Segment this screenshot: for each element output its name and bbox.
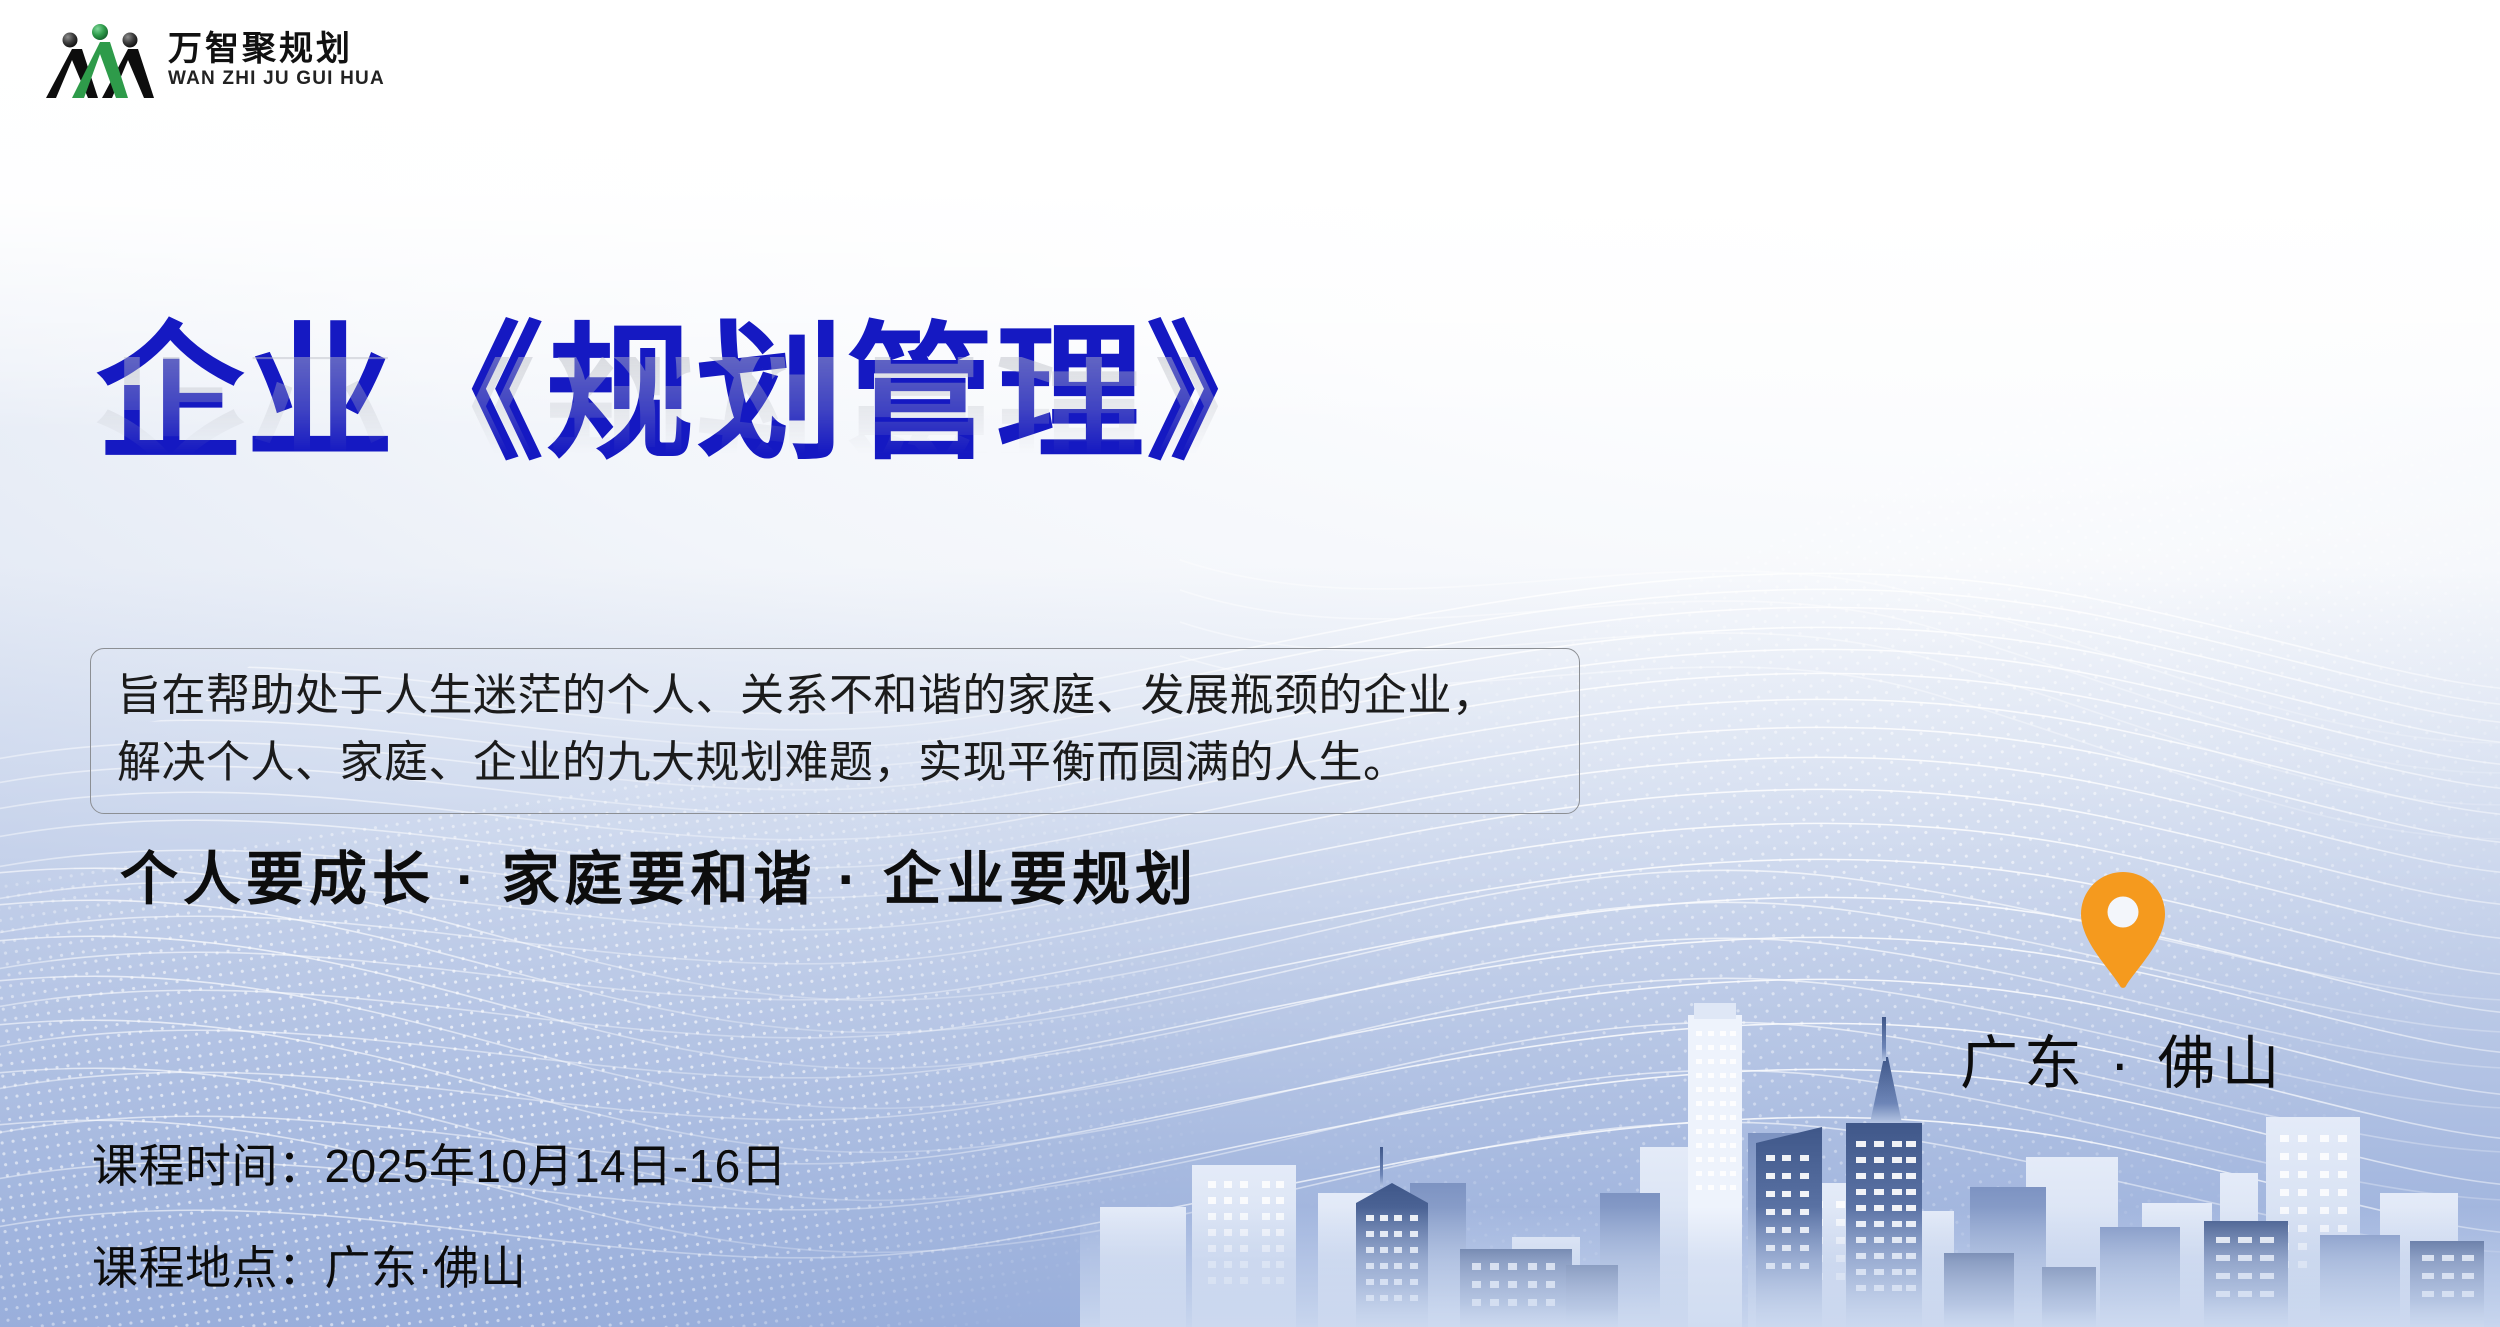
location-badge: 广东 · 佛山 — [1960, 870, 2286, 1100]
description-box: 旨在帮助处于人生迷茫的个人、关系不和谐的家庭、发展瓶颈的企业， 解决个人、家庭、… — [90, 648, 1580, 814]
course-info-block: 课程时间：2025年10月14日-16日 课程地点：广东·佛山 — [92, 1130, 787, 1298]
description-line-2: 解决个人、家庭、企业的九大规划难题，实现平衡而圆满的人生。 — [117, 730, 1557, 797]
title-reflection: 企业《规划管理》 — [96, 357, 1296, 475]
city-skyline-illustration — [1080, 997, 2500, 1327]
three-people-logo-icon — [46, 18, 154, 102]
hero-title-block: 企业《规划管理》 企业《规划管理》 — [96, 320, 1296, 593]
brand-logo[interactable]: 万智聚规划 WAN ZHI JU GUI HUA — [46, 18, 385, 102]
slogan-text: 个人要成长 · 家庭要和谐 · 企业要规划 — [120, 832, 1198, 916]
location-label: 广东 · 佛山 — [1960, 1016, 2286, 1100]
course-time-line: 课程时间：2025年10月14日-16日 — [92, 1130, 787, 1196]
course-place-line: 课程地点：广东·佛山 — [92, 1232, 787, 1298]
description-line-1: 旨在帮助处于人生迷茫的个人、关系不和谐的家庭、发展瓶颈的企业， — [117, 663, 1557, 730]
logo-name-cn: 万智聚规划 — [168, 32, 385, 68]
logo-name-en: WAN ZHI JU GUI HUA — [168, 69, 385, 88]
poster-canvas: 万智聚规划 WAN ZHI JU GUI HUA 企业《规划管理》 企业《规划管… — [0, 0, 2500, 1327]
map-pin-icon — [2077, 870, 2169, 990]
